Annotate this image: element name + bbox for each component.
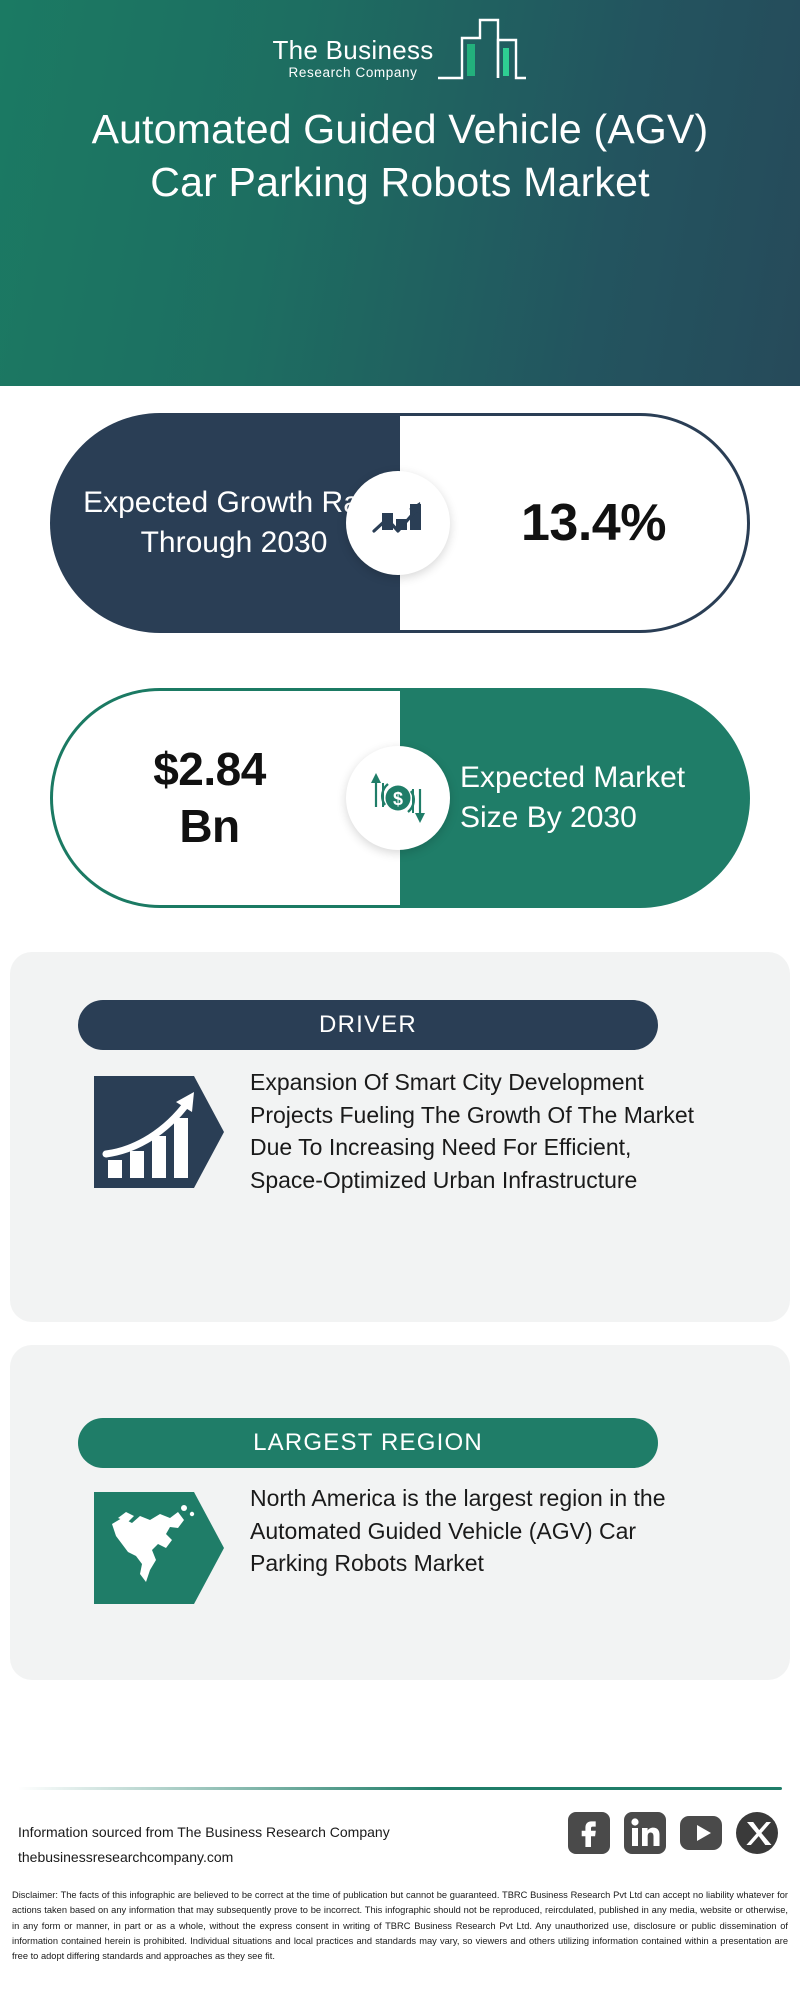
north-america-map-pentagon-icon [88,1478,238,1623]
logo-line-2: Research Company [289,64,418,83]
footer-source-line2[interactable]: thebusinessresearchcompany.com [18,1845,390,1870]
stat-card-growth-rate-value: 13.4% [521,493,666,553]
stat-card-market-size: $2.84 Bn Expected Market Size By 2030 $ [50,688,750,908]
logo-text: The Business Research Company [272,37,433,89]
footer-divider [18,1787,782,1790]
driver-text: Expansion Of Smart City Development Proj… [238,1062,698,1197]
stat-card-growth-rate-value-panel: 13.4% [400,413,750,633]
largest-region-pill-label: LARGEST REGION [253,1429,483,1457]
infographic-page: The Business Research Company Automated … [0,0,800,2000]
footer-source: Information sourced from The Business Re… [18,1820,390,1869]
disclaimer-text: Disclaimer: The facts of this infographi… [12,1888,788,1965]
x-twitter-icon[interactable] [734,1810,780,1856]
page-title: Automated Guided Vehicle (AGV) Car Parki… [60,103,740,210]
growth-chart-arrow-icon [346,471,450,575]
bar-chart-growth-pentagon-icon [88,1062,238,1207]
largest-region-text: North America is the largest region in t… [238,1478,698,1580]
youtube-icon[interactable] [678,1810,724,1856]
svg-text:$: $ [393,789,403,809]
stat-card-market-size-value-line1: $2.84 [153,743,266,795]
stat-card-market-size-label: Expected Market Size By 2030 [400,758,750,839]
company-logo: The Business Research Company [272,16,527,89]
stat-card-market-size-label-panel: Expected Market Size By 2030 [400,688,750,908]
header-banner: The Business Research Company Automated … [0,0,800,386]
stat-card-market-size-value-line2: Bn [179,800,239,852]
largest-region-pill: LARGEST REGION [78,1418,658,1468]
footer-source-line1: Information sourced from The Business Re… [18,1820,390,1845]
facebook-icon[interactable] [566,1810,612,1856]
logo-line-1: The Business [272,37,433,64]
driver-pill: DRIVER [78,1000,658,1050]
stat-card-market-size-value: $2.84 Bn [153,741,266,856]
social-links [566,1810,780,1856]
driver-pill-label: DRIVER [319,1011,417,1039]
linkedin-icon[interactable] [622,1810,668,1856]
driver-content: Expansion Of Smart City Development Proj… [88,1062,698,1207]
logo-bar-chart-icon [436,16,528,87]
dollar-circular-arrows-icon: $ [346,746,450,850]
largest-region-content: North America is the largest region in t… [88,1478,698,1623]
stat-card-growth-rate: Expected Growth Rate Through 2030 13.4% [50,413,750,633]
